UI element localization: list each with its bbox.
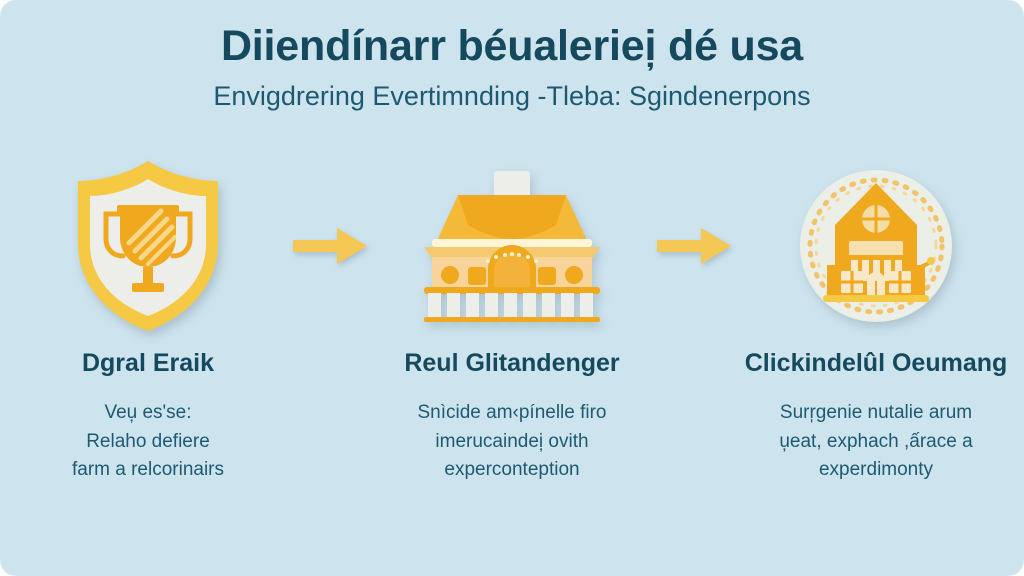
step-1-body: Veu̦ es'se: Relaho defiere farm a relcor… — [72, 399, 224, 485]
page-subtitle: Envigdrering Evertimnding -Tleba: Sginde… — [40, 80, 984, 112]
connector-2 — [646, 149, 742, 349]
arrow-right-icon — [291, 224, 369, 273]
step-2-body: Snìcide am‹pínelle firo imerucaindei̦ ov… — [417, 399, 606, 485]
step-1-heading: Dgral Eraik — [82, 349, 214, 378]
house-badge-icon — [797, 167, 955, 330]
infographic-card: Diiendínarr béualeriei̦ dé usa Envigdrer… — [0, 0, 1024, 576]
shield-trophy-icon — [68, 157, 228, 340]
step-1-icon-stage — [68, 149, 228, 349]
step-2-icon-stage — [406, 149, 618, 349]
step-column-1: Dgral Eraik Veu̦ es'se: Relaho defiere f… — [14, 149, 282, 485]
step-3-heading: Clickindelûl Oeumang — [745, 349, 1008, 378]
step-2-heading: Reul Glitandenger — [404, 349, 619, 378]
building-house-icon — [406, 169, 618, 328]
connector-1 — [282, 149, 378, 349]
step-column-3: Clickindelûl Oeumang Surr̩genie nutalie … — [742, 149, 1010, 485]
step-3-icon-stage — [797, 149, 955, 349]
steps-row: Dgral Eraik Veu̦ es'se: Relaho defiere f… — [0, 113, 1024, 576]
header-block: Diiendínarr béualeriei̦ dé usa Envigdrer… — [0, 0, 1024, 113]
arrow-right-icon — [655, 224, 733, 273]
page-title: Diiendínarr béualeriei̦ dé usa — [40, 22, 984, 70]
step-column-2: Reul Glitandenger Snìcide am‹pínelle fir… — [378, 149, 646, 485]
step-3-body: Surr̩genie nutalie arum u̦eat, exphach ,… — [779, 399, 972, 485]
